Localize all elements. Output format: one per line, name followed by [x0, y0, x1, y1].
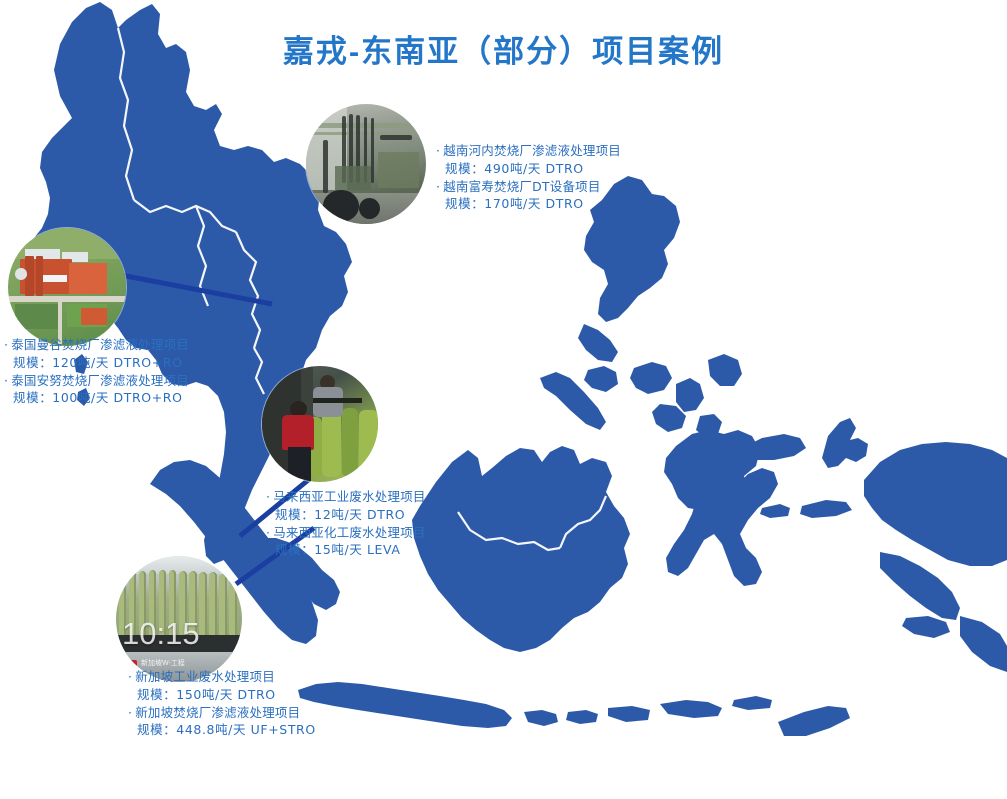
singapore-plant-photo[interactable]: 10:15 新加坡W-工程 — [116, 556, 242, 682]
malaysia-plant-photo[interactable] — [262, 366, 378, 482]
page-title: 嘉戎-东南亚（部分）项目案例 — [0, 26, 1007, 71]
project-spec: 规模：170吨/天 DTRO — [436, 195, 621, 213]
project-title: 新加坡工业废水处理项目 — [128, 668, 316, 686]
project-spec: 规模：15吨/天 LEVA — [266, 541, 426, 559]
project-title: 越南河内焚烧厂渗滤液处理项目 — [436, 142, 621, 160]
vietnam-photo-graphic — [306, 104, 426, 224]
project-title: 越南富寿焚烧厂DT设备项目 — [436, 178, 621, 196]
watermark-mark-icon — [130, 660, 137, 667]
project-title: 马来西亚化工废水处理项目 — [266, 524, 426, 542]
label-block-malaysia: 马来西亚工业废水处理项目 规模：12吨/天 DTRO 马来西亚化工废水处理项目 … — [266, 488, 426, 559]
project-title: 泰国曼谷焚烧厂渗滤液处理项目 — [4, 336, 189, 354]
project-spec: 规模：12吨/天 DTRO — [266, 506, 426, 524]
project-title: 马来西亚工业废水处理项目 — [266, 488, 426, 506]
project-title: 泰国安努焚烧厂渗滤液处理项目 — [4, 372, 189, 390]
project-spec: 规模：448.8吨/天 UF+STRO — [128, 721, 316, 739]
project-spec: 规模：120吨/天 DTRO+RO — [4, 354, 189, 372]
vietnam-plant-photo[interactable] — [306, 104, 426, 224]
project-spec: 规模：100吨/天 DTRO+RO — [4, 389, 189, 407]
photo-timestamp: 10:15 — [122, 616, 200, 652]
label-block-thailand: 泰国曼谷焚烧厂渗滤液处理项目 规模：120吨/天 DTRO+RO 泰国安努焚烧厂… — [4, 336, 189, 407]
project-title: 新加坡焚烧厂渗滤液处理项目 — [128, 704, 316, 722]
label-block-singapore: 新加坡工业废水处理项目 规模：150吨/天 DTRO 新加坡焚烧厂渗滤液处理项目… — [128, 668, 316, 739]
photo-watermark: 新加坡W-工程 — [130, 658, 185, 668]
connector-thailand — [100, 250, 280, 320]
thailand-plant-photo[interactable] — [8, 228, 126, 346]
watermark-text: 新加坡W-工程 — [141, 658, 185, 668]
label-block-vietnam: 越南河内焚烧厂渗滤液处理项目 规模：490吨/天 DTRO 越南富寿焚烧厂DT设… — [436, 142, 621, 213]
singapore-photo-graphic: 10:15 新加坡W-工程 — [116, 556, 242, 682]
thailand-photo-graphic — [8, 228, 126, 346]
malaysia-photo-graphic — [262, 366, 378, 482]
slide-canvas: 嘉戎-东南亚（部分）项目案例 — [0, 0, 1007, 799]
project-spec: 规模：490吨/天 DTRO — [436, 160, 621, 178]
project-spec: 规模：150吨/天 DTRO — [128, 686, 316, 704]
